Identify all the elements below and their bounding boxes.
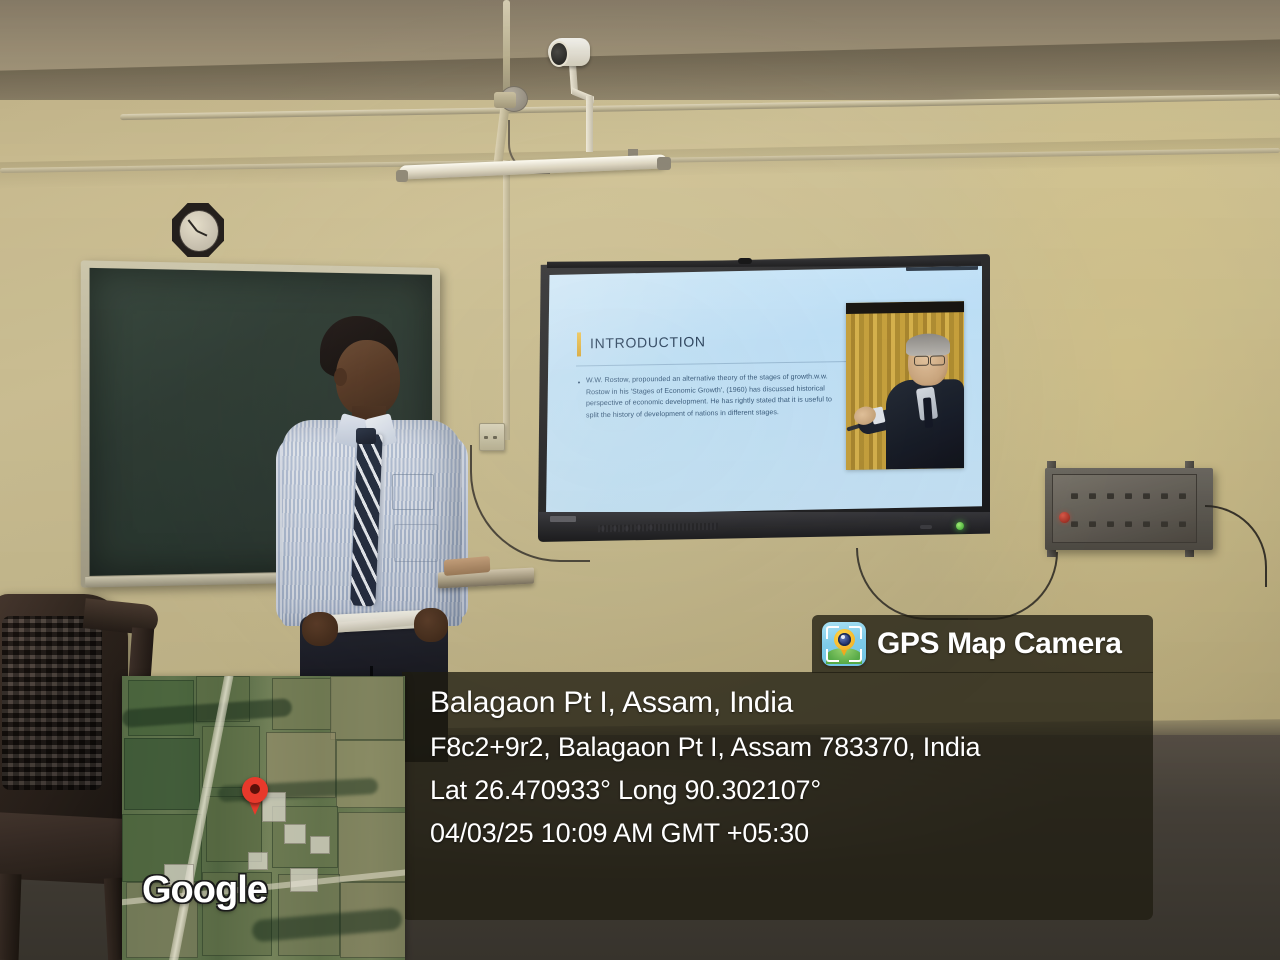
presenter-right-hand xyxy=(414,608,448,642)
presenter xyxy=(264,316,480,756)
panel-socket[interactable] xyxy=(1089,493,1096,499)
presentation-slide: CODE: GX97GW INTRODUCTION W.W. Rostow, p… xyxy=(546,266,982,515)
slide-portrait-photo xyxy=(846,301,964,470)
panel-socket[interactable] xyxy=(1179,493,1186,499)
chair-arm-post xyxy=(124,627,154,748)
slide-accent-bar xyxy=(577,332,581,356)
display-screen[interactable]: CODE: GX97GW INTRODUCTION W.W. Rostow, p… xyxy=(546,266,982,515)
cctv-camera-pole xyxy=(586,96,593,152)
conduit-junction-box xyxy=(494,92,516,108)
tubelight-end-cap-right xyxy=(657,157,671,170)
electrical-distribution-panel[interactable] xyxy=(1045,468,1213,550)
slide-body-text: W.W. Rostow, propounded an alternative t… xyxy=(586,371,838,422)
panel-socket[interactable] xyxy=(1143,521,1150,527)
panel-socket[interactable] xyxy=(1179,521,1186,527)
socket-hole-left xyxy=(484,436,488,439)
presenter-left-hand xyxy=(302,612,338,646)
presenter-shirt-pocket-upper xyxy=(392,474,434,510)
panel-socket[interactable] xyxy=(1143,493,1150,499)
wall-conduit-vertical xyxy=(503,0,510,100)
photo-glasses-right-lens xyxy=(930,355,945,365)
panel-socket[interactable] xyxy=(1161,521,1168,527)
panel-socket[interactable] xyxy=(1125,521,1132,527)
presenter-trouser-seam xyxy=(370,666,373,762)
panel-socket[interactable] xyxy=(1071,493,1078,499)
panel-socket[interactable] xyxy=(1107,493,1114,499)
presenter-shirt-pocket-lower xyxy=(394,524,438,562)
plastic-chair xyxy=(0,594,163,960)
screenshot-root: CODE: GX97GW INTRODUCTION W.W. Rostow, p… xyxy=(0,0,1280,960)
photo-glasses-left-lens xyxy=(914,356,929,366)
panel-socket[interactable] xyxy=(1161,493,1168,499)
panel-socket[interactable] xyxy=(1071,521,1078,527)
photo-hair xyxy=(906,333,950,356)
chair-backrest-perforation xyxy=(2,616,102,790)
chair-seat xyxy=(0,812,150,886)
display-power-led-icon xyxy=(956,522,964,530)
cctv-lens-icon xyxy=(549,41,569,67)
interactive-display-panel[interactable]: CODE: GX97GW INTRODUCTION W.W. Rostow, p… xyxy=(538,254,990,554)
slide-bullet-marker xyxy=(578,381,580,383)
chair-leg-back xyxy=(104,878,128,960)
presenter-ear xyxy=(334,368,347,386)
display-ir-receiver xyxy=(920,525,932,529)
panel-inner-face xyxy=(1052,474,1197,543)
socket-hole-right xyxy=(493,436,497,439)
wall-clock xyxy=(172,203,224,257)
wall-conduit-downpipe xyxy=(503,160,510,440)
slide-divider xyxy=(576,361,851,367)
panel-socket[interactable] xyxy=(1107,521,1114,527)
display-camera-icon xyxy=(738,258,752,264)
presenter-tie-knot xyxy=(356,428,376,444)
tubelight-end-cap-left xyxy=(396,170,408,182)
display-brand-logo xyxy=(550,516,576,522)
slide-title: INTRODUCTION xyxy=(590,333,706,351)
photo-top-band xyxy=(846,301,964,314)
floor-reflection xyxy=(180,760,1080,880)
panel-indicator-light-icon xyxy=(1059,512,1070,523)
panel-socket[interactable] xyxy=(1125,493,1132,499)
panel-socket[interactable] xyxy=(1089,521,1096,527)
chair-leg-front xyxy=(0,874,21,960)
